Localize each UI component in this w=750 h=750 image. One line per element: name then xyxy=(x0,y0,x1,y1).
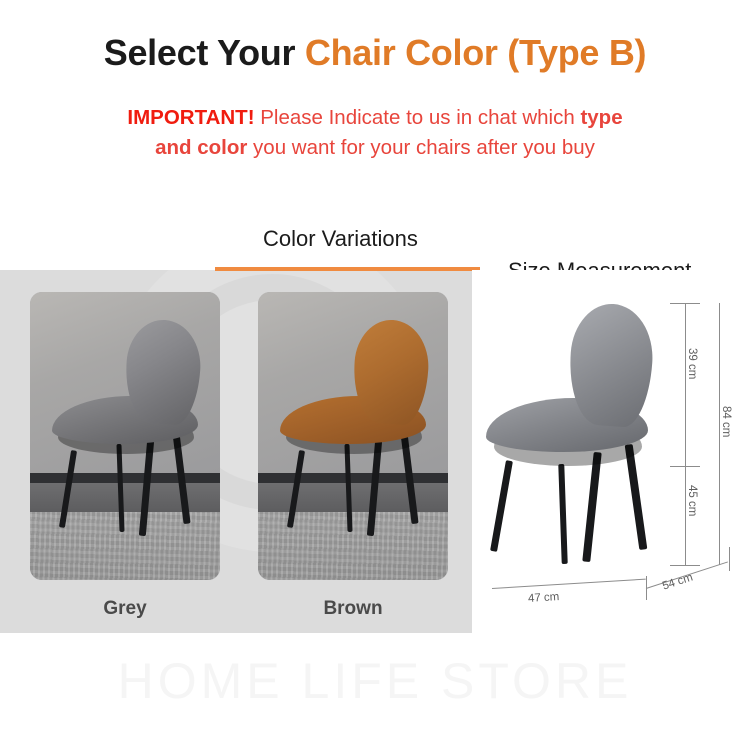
chair-measurement xyxy=(482,288,682,588)
chair-brown xyxy=(258,292,448,580)
dim-label-back-height: 39 cm xyxy=(686,348,698,379)
dim-tick-floor xyxy=(670,565,700,566)
chair-backrest xyxy=(122,318,203,427)
dim-label-seat-height: 45 cm xyxy=(686,485,698,516)
page-title-plain: Select Your xyxy=(104,32,305,73)
chair-leg xyxy=(59,450,77,528)
chair-leg xyxy=(490,460,513,552)
dim-label-total-height: 84 cm xyxy=(720,406,732,437)
dim-line-back-height xyxy=(685,303,686,466)
swatch-label-grey: Grey xyxy=(30,598,220,620)
swatch-photo-brown[interactable] xyxy=(258,292,448,580)
notice-line2-a: and color xyxy=(155,136,247,159)
store-watermark: HOME LIFE STORE xyxy=(0,652,750,710)
chair-backrest xyxy=(350,318,431,427)
chair-backrest xyxy=(566,301,656,428)
dim-label-depth: 47 cm xyxy=(528,591,560,605)
color-variations-heading: Color Variations xyxy=(263,226,418,252)
notice-line-1: IMPORTANT! Please Indicate to us in chat… xyxy=(0,103,750,133)
chair-leg xyxy=(116,444,124,532)
dim-tick-width-end xyxy=(729,547,730,571)
swatch-label-brown: Brown xyxy=(258,598,448,620)
chair-leg xyxy=(287,450,305,528)
chair-leg xyxy=(582,452,601,562)
swatch-photo-grey[interactable] xyxy=(30,292,220,580)
chair-leg xyxy=(344,444,352,532)
notice-line2-b: you want for your chairs after you buy xyxy=(247,136,595,159)
notice-important: IMPORTANT! xyxy=(127,106,254,129)
page-title: Select Your Chair Color (Type B) xyxy=(0,32,750,74)
chair-leg xyxy=(367,440,382,536)
chair-grey xyxy=(30,292,220,580)
chair-leg xyxy=(625,444,648,550)
notice-text: IMPORTANT! Please Indicate to us in chat… xyxy=(0,103,750,163)
page-title-accent: Chair Color (Type B) xyxy=(305,32,646,73)
notice-line1-b: type xyxy=(580,106,622,129)
chair-leg xyxy=(139,440,154,536)
size-measurement-panel: 39 cm 45 cm 84 cm 47 cm 54 cm xyxy=(472,270,750,633)
chair-leg xyxy=(558,464,567,564)
notice-line-2: and color you want for your chairs after… xyxy=(0,133,750,163)
notice-line1-a: Please Indicate to us in chat which xyxy=(255,106,581,129)
